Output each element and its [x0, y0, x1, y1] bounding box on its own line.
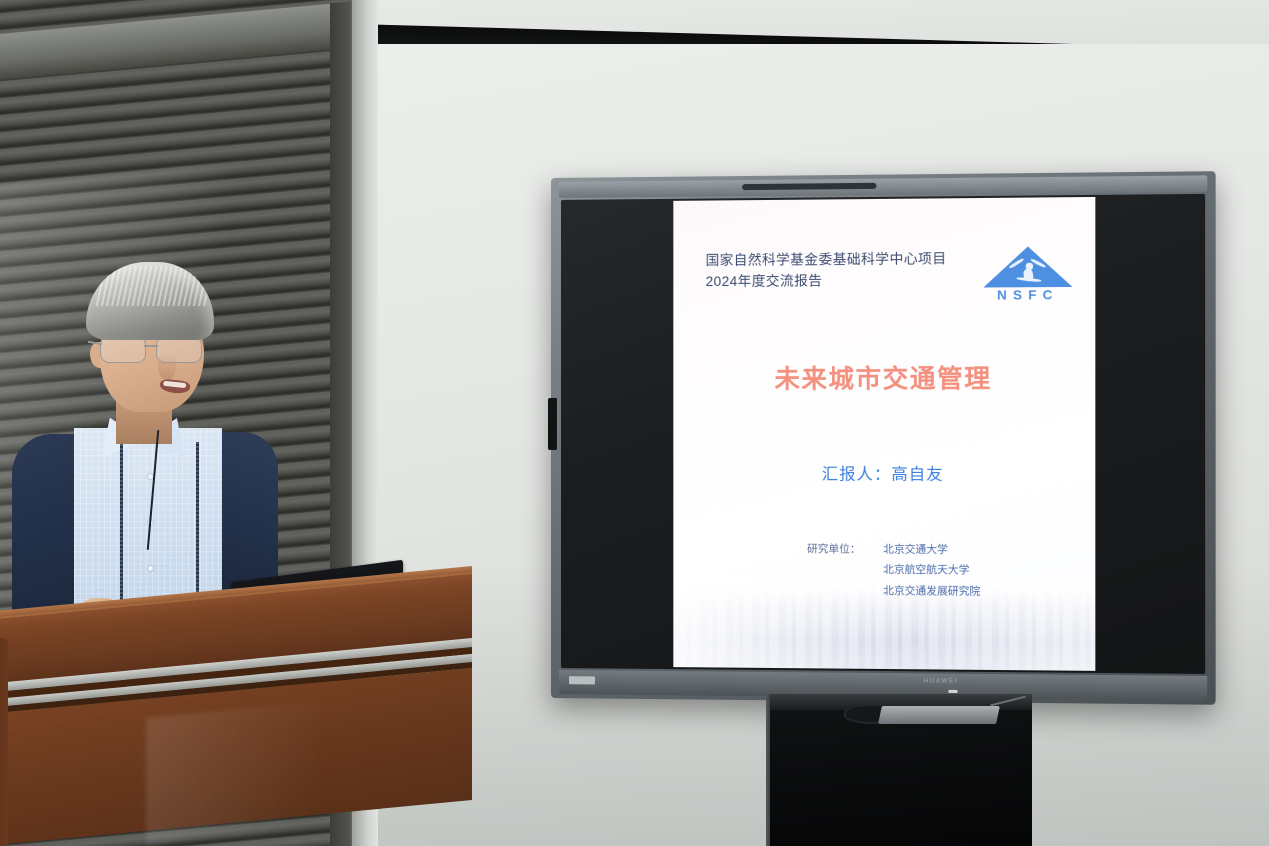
nsfc-logo: NSFC [983, 246, 1072, 306]
presentation-slide: 国家自然科学基金委基础科学中心项目 2024年度交流报告 NSFC 未来城市交通… [673, 197, 1095, 671]
interactive-display[interactable]: 国家自然科学基金委基础科学中心项目 2024年度交流报告 NSFC 未来城市交通… [551, 171, 1216, 705]
slide-affiliations: 研究单位： 北京交通大学 北京航空航天大学 北京交通发展研究院 [807, 539, 980, 602]
presentation-photo-scene: 国家自然科学基金委基础科学中心项目 2024年度交流报告 NSFC 未来城市交通… [0, 0, 1269, 846]
nose [158, 354, 176, 380]
slide-presenter: 汇报人：高自友 [673, 460, 1095, 485]
podium-left-face [0, 628, 8, 846]
camera-icon [742, 183, 876, 190]
podium-sheen [146, 695, 386, 846]
list-item: 北京航空航天大学 [883, 560, 980, 581]
affiliation-label: 研究单位： [807, 539, 861, 601]
affiliation-list: 北京交通大学 北京航空航天大学 北京交通发展研究院 [883, 539, 980, 602]
power-led-icon [948, 690, 957, 693]
hair [86, 262, 214, 340]
slide-title: 未来城市交通管理 [673, 358, 1095, 395]
cabinet-equipment [878, 706, 1000, 724]
display-brand-label: HUAWEI [924, 678, 958, 684]
podium [0, 600, 486, 846]
nsfc-logo-text: NSFC [983, 287, 1072, 303]
nsfc-figure-icon [1014, 261, 1041, 284]
display-screen[interactable]: 国家自然科学基金委基础科学中心项目 2024年度交流报告 NSFC 未来城市交通… [561, 194, 1205, 674]
list-item: 北京交通发展研究院 [883, 581, 980, 602]
slide-header: 国家自然科学基金委基础科学中心项目 2024年度交流报告 [706, 249, 947, 293]
list-item: 北京交通大学 [883, 539, 980, 560]
display-control-button[interactable] [569, 676, 595, 684]
display-side-port[interactable] [548, 398, 558, 450]
